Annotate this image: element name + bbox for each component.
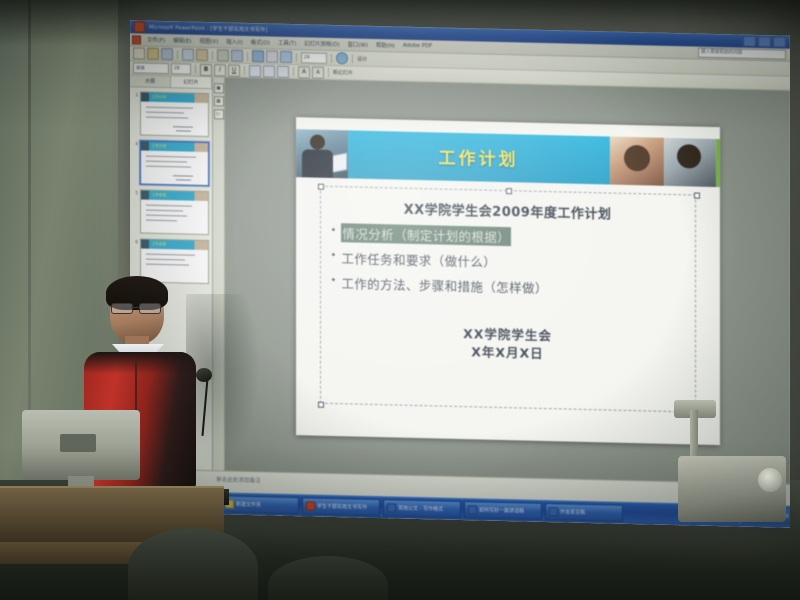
chair-foreground — [128, 528, 258, 600]
thumbnail-signature-line — [176, 179, 191, 181]
thumbnail-number: 6 — [133, 238, 138, 245]
toolbar-separator — [212, 51, 213, 60]
tab-outline[interactable]: 大纲 — [130, 75, 171, 87]
thumbnail-line — [146, 259, 185, 261]
banner-photo-businessman-icon — [296, 129, 348, 178]
bold-icon[interactable]: B — [200, 63, 212, 75]
thumbnail-item[interactable]: 3 工作计划 — [133, 91, 209, 137]
thumbnail-line — [146, 117, 188, 119]
redo-icon[interactable] — [231, 50, 243, 62]
bullet-item[interactable]: • 工作任务和要求（做什么） — [331, 247, 685, 274]
thumbnail-preview[interactable]: 工作总结 — [140, 189, 209, 235]
powerpoint-icon — [306, 501, 315, 510]
resize-handle[interactable] — [318, 183, 324, 189]
lecture-hall-photo: Microsoft PowerPoint - [学生干部实用文书写作] 文件(F… — [0, 0, 800, 600]
menu-edit[interactable]: 编辑(E) — [169, 35, 195, 46]
save-icon[interactable] — [161, 48, 173, 60]
banner-photo-person2-icon — [664, 137, 716, 186]
undo-icon[interactable] — [217, 49, 229, 61]
thumbnail-line — [146, 254, 194, 256]
bullet-text-selected[interactable]: 情况分析（制定计划的根据） — [341, 223, 511, 246]
slideshow-button[interactable]: ▷ — [214, 109, 224, 119]
presenter-shoulder-shading — [84, 352, 196, 374]
microphone-head — [196, 368, 212, 382]
wall-seam — [28, 0, 31, 470]
banner-green-edge — [716, 139, 720, 187]
toolbar-separator — [244, 66, 245, 75]
decrease-font-size-icon[interactable]: A — [312, 66, 324, 78]
laptop-icon — [323, 152, 347, 174]
document-icon — [132, 35, 141, 44]
slide-banner-title: 工作计划 — [439, 143, 519, 170]
projector-arm — [690, 410, 698, 462]
bullet-item[interactable]: • 工作的方法、步骤和措施（怎样做） — [331, 272, 685, 299]
align-right-icon[interactable] — [277, 65, 289, 77]
thumbnail-preview-selected[interactable]: 工作计划 — [140, 140, 209, 186]
toolbar-separator — [296, 53, 297, 62]
thumbnail-title: 工作计划 — [152, 143, 166, 148]
menu-format[interactable]: 格式(O) — [247, 37, 274, 48]
bullet-item[interactable]: • 情况分析（制定计划的根据） — [331, 222, 685, 249]
menu-file[interactable]: 文件(F) — [143, 35, 169, 46]
slide-heading: XX学院学生会2009年度工作计划 — [331, 196, 685, 223]
thumbnail-item[interactable]: 5 工作总结 — [133, 189, 209, 235]
menu-right-group[interactable]: 键入需要帮助的问题 — [698, 48, 788, 60]
thumbnail-item[interactable]: 4 工作计划 — [133, 140, 209, 186]
font-size-value: 28 — [174, 66, 180, 71]
insert-table-icon[interactable] — [252, 50, 264, 62]
thumbnail-title: 工作总结 — [152, 192, 166, 197]
open-icon[interactable] — [147, 48, 159, 60]
taskbar-item-label: 开会发言稿 — [560, 508, 585, 516]
slide-sorter-button[interactable]: ▦ — [214, 96, 224, 106]
window-controls[interactable] — [743, 36, 786, 48]
thumbnail-line — [146, 215, 186, 217]
font-name-combo[interactable]: 宋体 — [133, 62, 169, 74]
print-preview-icon[interactable] — [196, 49, 208, 61]
bullet-marker: • — [331, 222, 337, 235]
toolbar-separator — [177, 50, 178, 59]
insert-picture-icon[interactable] — [280, 51, 292, 63]
taskbar-item-label: 学生干部实用文书写作 — [317, 502, 367, 510]
close-button[interactable] — [773, 36, 786, 47]
toolbar-separator — [328, 68, 329, 77]
menu-adobe-pdf[interactable]: Adobe PDF — [399, 42, 436, 51]
thumbnail-line — [146, 205, 192, 207]
slide-banner: 工作计划 — [296, 129, 720, 187]
projector-lamp — [758, 468, 782, 492]
crt-monitor — [22, 410, 140, 496]
taskbar-item[interactable]: 新建文件夹 — [221, 495, 299, 514]
minimize-button[interactable] — [743, 36, 756, 47]
underline-icon[interactable]: U — [228, 64, 240, 76]
bullet-marker: • — [331, 247, 337, 260]
thumbnail-line — [146, 112, 184, 114]
toolbar-separator — [293, 67, 294, 76]
bullet-marker: • — [331, 272, 337, 285]
overhead-projector — [678, 402, 786, 522]
word-icon — [387, 503, 396, 512]
microphone-stem — [201, 378, 208, 436]
zoom-value: 28 — [304, 55, 310, 60]
insert-chart-icon[interactable] — [266, 50, 278, 62]
banner-photo-person1-icon — [610, 136, 664, 185]
taskbar-item-label: 常用公文 - 写作格式 — [398, 504, 443, 512]
ask-question-placeholder: 键入需要帮助的问题 — [699, 49, 785, 59]
design-button[interactable]: 设计 — [357, 55, 367, 62]
menu-view[interactable]: 视图(V) — [196, 36, 223, 47]
taskbar-item-active[interactable]: 学生干部实用文书写作 — [302, 497, 380, 516]
thumbnail-number: 5 — [133, 189, 138, 196]
thumbnail-title: 工作计划 — [152, 94, 166, 99]
increase-font-size-icon[interactable]: A — [298, 66, 310, 78]
thumbnail-line — [146, 161, 186, 163]
tab-slides[interactable]: 幻灯片 — [171, 76, 212, 88]
new-slide-button[interactable]: 新幻灯片 — [333, 69, 353, 76]
toolbar-separator — [247, 51, 248, 60]
toolbar-separator — [331, 53, 332, 62]
monitor-vent — [60, 434, 96, 452]
align-left-icon[interactable] — [249, 65, 261, 77]
thumbnail-number: 4 — [133, 140, 138, 147]
glasses-icon — [111, 303, 161, 312]
monitor-case — [22, 410, 140, 480]
menu-window[interactable]: 窗口(W) — [344, 39, 372, 50]
ask-question-input[interactable]: 键入需要帮助的问题 — [698, 48, 786, 60]
bullet-text[interactable]: 工作任务和要求（做什么） — [341, 248, 496, 271]
menu-insert[interactable]: 插入(I) — [222, 36, 247, 47]
notes-placeholder: 单击此处添加备注 — [216, 477, 261, 484]
banner-bar: 工作计划 — [348, 130, 610, 184]
print-icon[interactable] — [182, 48, 194, 60]
thumbnail-signature-line — [173, 175, 193, 177]
thumbnail-line — [146, 166, 190, 168]
toolbar-separator — [195, 65, 196, 74]
glasses-left-lens — [111, 303, 133, 314]
powerpoint-icon — [134, 21, 145, 32]
menu-slideshow[interactable]: 幻灯片放映(D) — [300, 38, 343, 49]
taskbar-item[interactable]: 开会发言稿 — [545, 503, 623, 522]
bullet-text[interactable]: 工作的方法、步骤和措施（怎样做） — [341, 273, 547, 297]
taskbar-item[interactable]: 常用公文 - 写作格式 — [383, 499, 461, 518]
menu-tools[interactable]: 工具(T) — [274, 38, 300, 49]
microphone — [192, 368, 218, 434]
zoom-combo[interactable]: 28 — [301, 52, 327, 64]
slide-content-placeholder[interactable]: XX学院学生会2009年度工作计划 • 情况分析（制定计划的根据） • 工作任务… — [320, 185, 696, 412]
thumbnail-signature-line — [176, 130, 191, 132]
maximize-button[interactable] — [758, 36, 771, 47]
thumbnail-title: 工作总结 — [152, 241, 166, 246]
resize-handle[interactable] — [506, 188, 512, 194]
slide-signature: XX学院学生会 X年X月X日 — [331, 321, 685, 367]
taskbar-item[interactable]: 如何写好一篇讲话稿 — [464, 501, 542, 520]
taskbar-item-label: 如何写好一篇讲话稿 — [479, 506, 524, 514]
thumbnail-line — [146, 220, 177, 222]
align-center-icon[interactable] — [263, 65, 275, 77]
font-name-value: 宋体 — [136, 65, 145, 71]
resize-handle[interactable] — [694, 192, 700, 198]
taskbar-item-label: 新建文件夹 — [236, 500, 261, 508]
thumbnail-line — [146, 156, 196, 158]
normal-view-button[interactable]: ▣ — [214, 83, 224, 93]
thumbnail-signature-line — [173, 126, 193, 128]
thumbnail-number: 3 — [133, 91, 138, 98]
thumbnail-preview[interactable]: 工作计划 — [140, 91, 209, 137]
glasses-right-lens — [139, 303, 161, 314]
word-icon — [549, 507, 558, 516]
thumbnail-line — [146, 107, 193, 109]
font-size-combo[interactable]: 28 — [171, 63, 191, 74]
italic-icon[interactable]: I — [214, 64, 226, 76]
menu-help[interactable]: 帮助(H) — [372, 40, 399, 51]
help-icon[interactable] — [336, 52, 348, 64]
toolbar-separator — [352, 54, 353, 63]
thumbnail-line — [146, 264, 189, 266]
current-slide[interactable]: 工作计划 XX学院学生会2009年度工作计划 • 情况分析（制定计划的根据） — [296, 117, 720, 445]
resize-handle[interactable] — [318, 401, 324, 407]
thumbnail-line — [146, 210, 182, 212]
new-icon[interactable] — [133, 47, 145, 59]
window-title: Microsoft PowerPoint - [学生干部实用文书写作] — [149, 24, 267, 34]
word-icon — [468, 505, 477, 514]
